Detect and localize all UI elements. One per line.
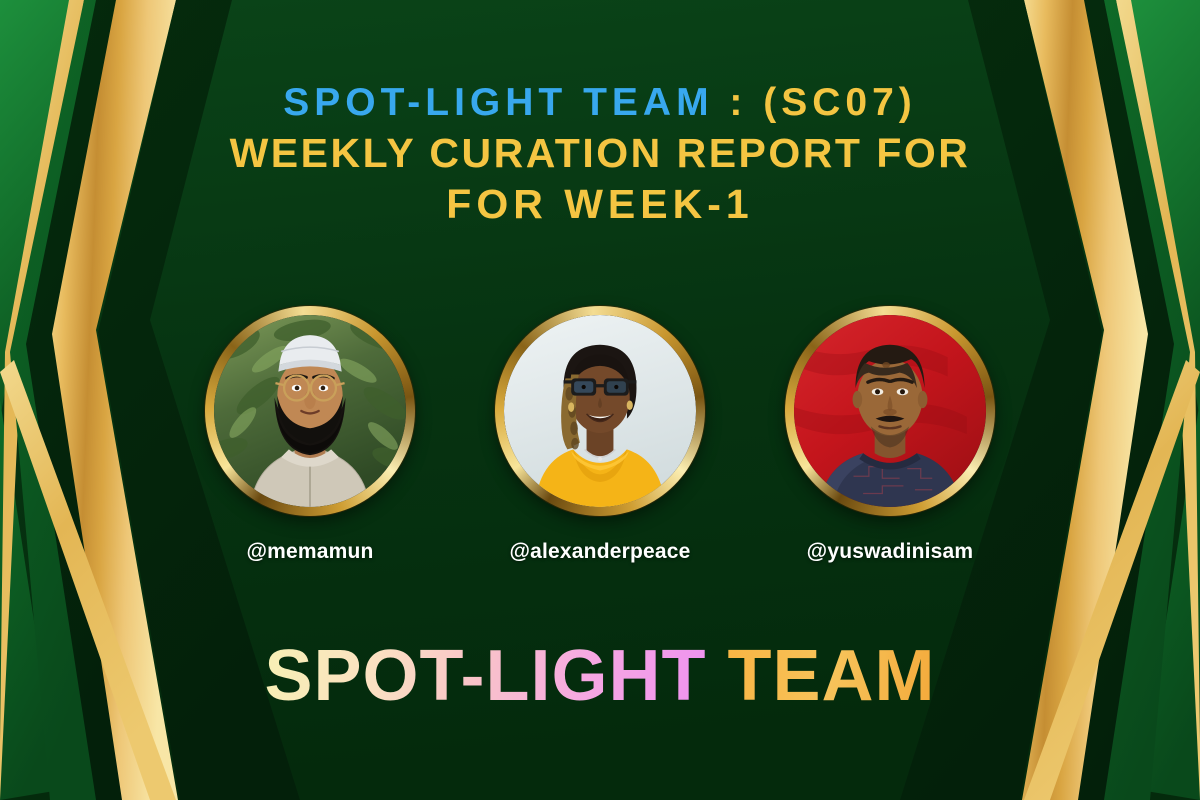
member-avatar-row: @memamun [0,306,1200,564]
headline-line-2: WEEKLY CURATION REPORT FOR [0,131,1200,176]
headline-line-3: FOR WEEK-1 [0,182,1200,227]
headline-team-code: : (SC07) [714,81,917,124]
wordmark-team: TEAM [728,636,936,716]
wordmark-spotlight: SPOT-LIGHT [265,636,707,716]
avatar-gold-ring [205,306,415,516]
wordmark-space [707,636,728,716]
avatar [504,315,696,507]
member-handle: @memamun [200,540,420,564]
member-handle: @alexanderpeace [490,540,710,564]
avatar [794,315,986,507]
member-handle: @yuswadinisam [780,540,1000,564]
poster-canvas: SPOT-LIGHT TEAM : (SC07) WEEKLY CURATION… [0,0,1200,800]
avatar-gold-ring [785,306,995,516]
avatar-gold-ring [495,306,705,516]
member-card: @memamun [200,306,420,564]
avatar [214,315,406,507]
headline-team-name: SPOT-LIGHT TEAM [283,81,713,124]
footer-wordmark: SPOT-LIGHT TEAM [0,640,1200,712]
headline-line-1: SPOT-LIGHT TEAM : (SC07) [0,82,1200,125]
headline-block: SPOT-LIGHT TEAM : (SC07) WEEKLY CURATION… [0,82,1200,227]
member-card: @alexanderpeace [490,306,710,564]
member-card: @yuswadinisam [780,306,1000,564]
